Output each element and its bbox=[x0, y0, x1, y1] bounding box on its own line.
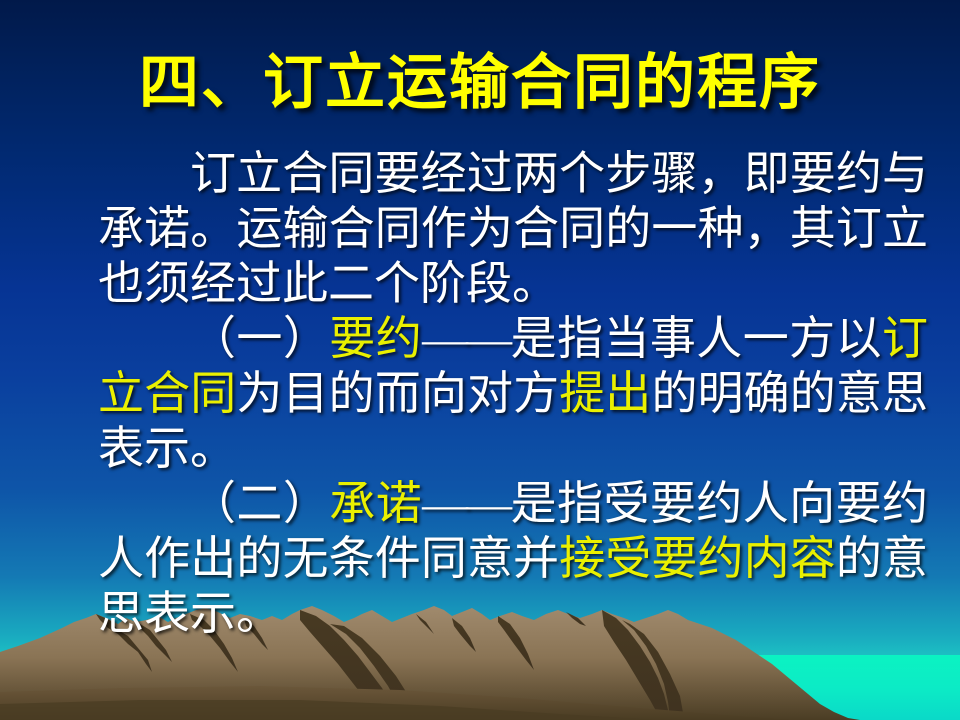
text-run: 订立合同要经过两个步骤，即要约与承诺。运输合同作为合同的一种，其订立也须经过此二… bbox=[98, 148, 928, 309]
slide-title: 四、订立运输合同的程序 bbox=[0, 52, 960, 115]
paragraph-acceptance: （二）承诺——是指受要约人向要约人作出的无条件同意并接受要约内容的意思表示。 bbox=[98, 476, 928, 641]
text-run: 是指当事人一方以 bbox=[510, 313, 882, 364]
paragraph-offer: （一）要约——是指当事人一方以订立合同为目的而向对方提出的明确的意思表示。 bbox=[98, 311, 928, 476]
highlight-run: 接受要约内容 bbox=[559, 533, 836, 584]
highlight-run: 承诺 bbox=[329, 478, 422, 529]
em-dash: —— bbox=[422, 478, 510, 529]
highlight-run: 要约 bbox=[329, 313, 422, 364]
text-run: 为目的而向对方 bbox=[236, 368, 559, 419]
slide-body: 订立合同要经过两个步骤，即要约与承诺。运输合同作为合同的一种，其订立也须经过此二… bbox=[98, 146, 928, 641]
em-dash: —— bbox=[422, 313, 510, 364]
highlight-run: 提出 bbox=[559, 368, 651, 419]
paragraph-intro: 订立合同要经过两个步骤，即要约与承诺。运输合同作为合同的一种，其订立也须经过此二… bbox=[98, 146, 928, 311]
text-run: （一） bbox=[190, 313, 329, 364]
presentation-slide: 四、订立运输合同的程序 订立合同要经过两个步骤，即要约与承诺。运输合同作为合同的… bbox=[0, 0, 960, 720]
text-run: （二） bbox=[190, 478, 329, 529]
